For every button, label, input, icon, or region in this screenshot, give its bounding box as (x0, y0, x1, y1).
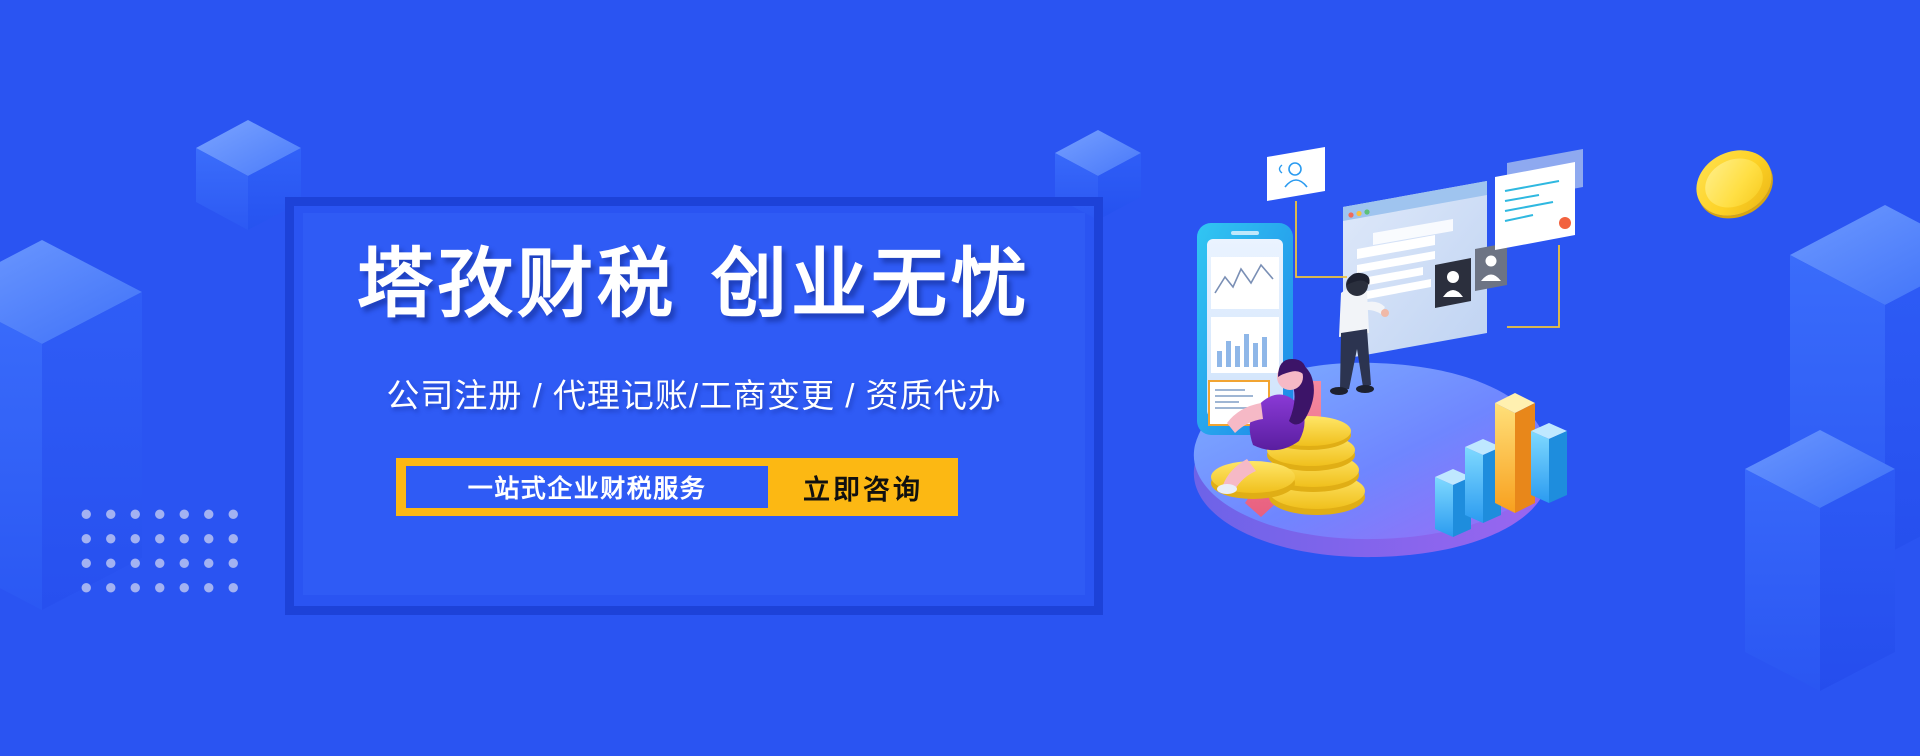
contact-card (1267, 147, 1325, 201)
isometric-block-left-icon (0, 240, 142, 660)
cta-bar: 一站式企业财税服务 立即咨询 (396, 458, 958, 516)
isometric-block-right-mid-icon (1745, 430, 1895, 730)
isometric-block-right-icon (1790, 205, 1920, 605)
headline-part-1: 塔孜财税 (357, 242, 677, 327)
cta-tagline: 一站式企业财税服务 (406, 466, 768, 508)
page-title: 塔孜财税创业无忧 (303, 247, 1085, 323)
dot-grid-pattern (70, 498, 242, 596)
consult-now-button[interactable]: 立即咨询 (768, 458, 958, 516)
headline-part-2: 创业无忧 (711, 242, 1031, 327)
services-subtitle: 公司注册 / 代理记账/工商变更 / 资质代办 (303, 376, 1085, 416)
gold-coin-top-right-icon (1685, 138, 1782, 228)
promo-banner: 塔孜财税创业无忧 公司注册 / 代理记账/工商变更 / 资质代办 一站式企业财税… (0, 0, 1920, 756)
hero-illustration (1135, 145, 1605, 605)
message-card (1495, 149, 1583, 250)
